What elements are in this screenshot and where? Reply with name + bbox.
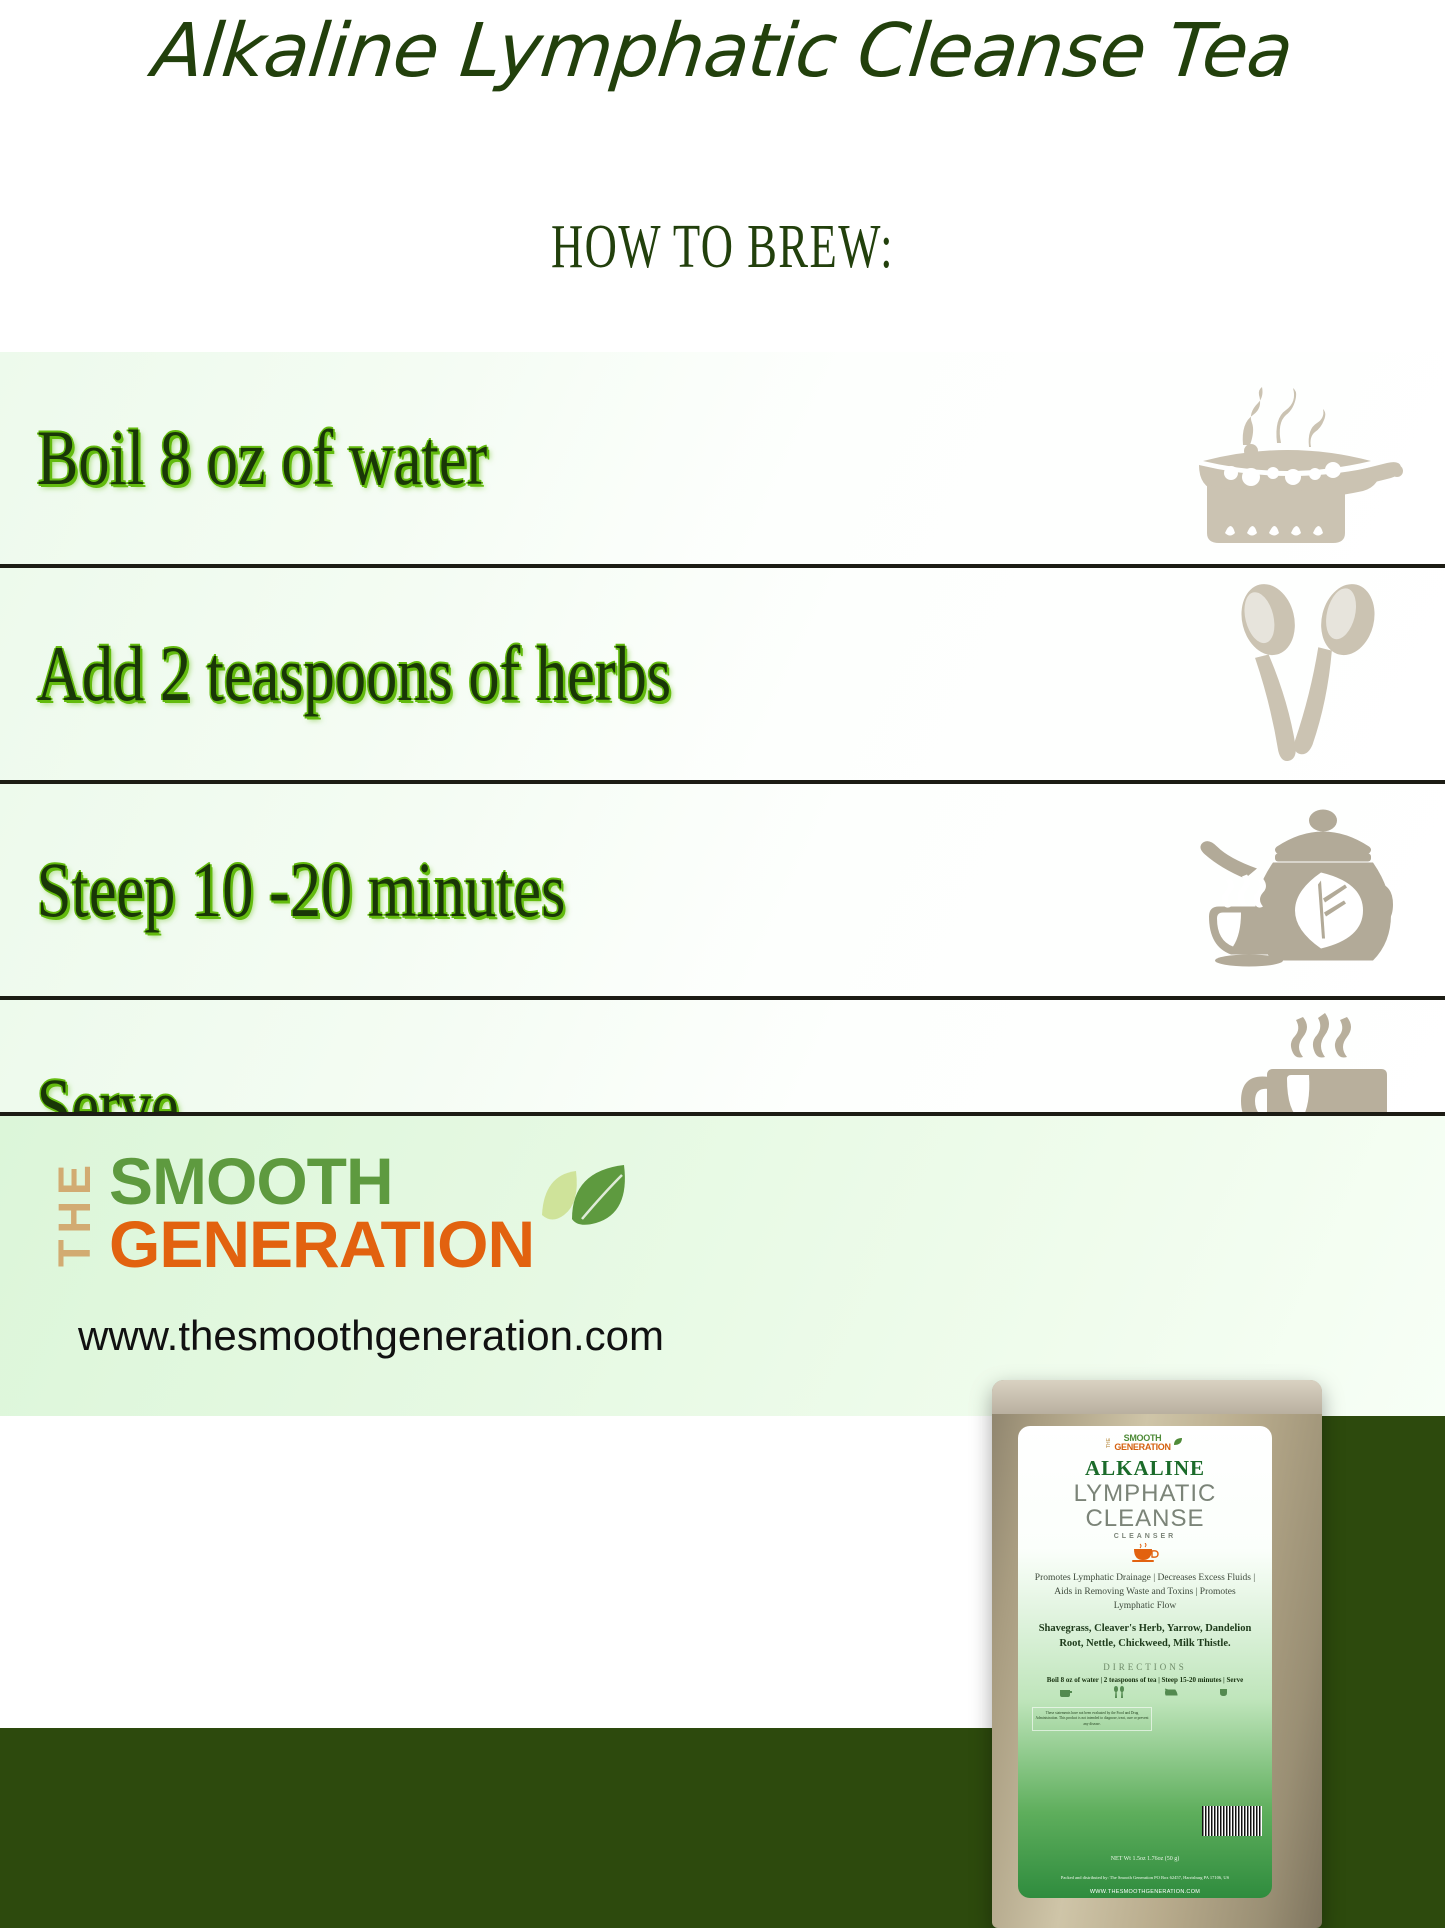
mini-spoons-icon	[1112, 1686, 1126, 1698]
footer-logo-band: THE SMOOTH GENERATION www.thesmoothgener…	[0, 1112, 1445, 1416]
label-net-weight: NET Wt 1.5oz 1.76oz (50 g)	[1018, 1856, 1272, 1862]
label-address: Packed and distributed by: The Smooth Ge…	[1018, 1875, 1272, 1882]
step-row-steep: Steep 10 -20 minutes	[0, 784, 1445, 1000]
label-product-type: CLEANSER	[1026, 1533, 1264, 1540]
mini-teapot-icon	[1164, 1686, 1178, 1698]
step-label-teaspoons: Add 2 teaspoons of herbs	[0, 629, 671, 719]
label-brand-generation: GENERATION	[1114, 1443, 1170, 1452]
boiling-pot-icon	[1173, 373, 1403, 543]
section-title: HOW TO BREW:	[202, 212, 1242, 283]
mini-cup-icon	[1217, 1686, 1231, 1698]
two-spoons-icon	[1203, 579, 1403, 769]
brew-steps-list: Boil 8 oz of water	[0, 352, 1445, 1216]
logo-the-text: THE	[52, 1159, 97, 1267]
label-direction-icons	[1026, 1686, 1264, 1698]
brand-logo: THE SMOOTH GENERATION	[52, 1150, 630, 1277]
bag-seal	[992, 1380, 1322, 1414]
label-teacup-icon	[1026, 1543, 1264, 1568]
leaf-icon	[538, 1163, 630, 1246]
mini-pot-icon	[1059, 1686, 1073, 1698]
step-row-boil: Boil 8 oz of water	[0, 352, 1445, 568]
teapot-and-cup-icon	[1173, 803, 1403, 978]
logo-generation-text: GENERATION	[109, 1213, 534, 1276]
product-bag-image: THE SMOOTH GENERATION ALKALINE LYMPHATIC…	[992, 1380, 1322, 1928]
label-directions-text: Boil 8 oz of water | 2 teaspoons of tea …	[1026, 1676, 1264, 1684]
label-barcode	[1202, 1806, 1262, 1836]
label-ingredients: Shavegrass, Cleaver's Herb, Yarrow, Dand…	[1026, 1621, 1264, 1653]
step-row-teaspoons: Add 2 teaspoons of herbs	[0, 568, 1445, 784]
label-directions-header: DIRECTIONS	[1026, 1662, 1264, 1672]
logo-smooth-text: SMOOTH	[109, 1150, 534, 1213]
label-url: WWW.THESMOOTHGENERATION.COM	[1018, 1889, 1272, 1895]
product-label: THE SMOOTH GENERATION ALKALINE LYMPHATIC…	[1018, 1426, 1272, 1898]
label-brand-the: THE	[1107, 1438, 1112, 1448]
label-description: Promotes Lymphatic Drainage | Decreases …	[1026, 1572, 1264, 1613]
step-label-boil: Boil 8 oz of water	[0, 413, 487, 503]
label-product-alkaline: ALKALINE	[1026, 1456, 1264, 1481]
website-url[interactable]: www.thesmoothgeneration.com	[78, 1312, 664, 1360]
label-disclaimer: These statements have not been evaluated…	[1032, 1707, 1152, 1731]
label-leaf-icon	[1173, 1434, 1183, 1452]
step-label-steep: Steep 10 -20 minutes	[0, 845, 565, 935]
label-brand-logo: THE SMOOTH GENERATION	[1026, 1434, 1264, 1453]
label-product-name: LYMPHATIC CLEANSE	[1026, 1481, 1264, 1531]
page-title: Alkaline Lymphatic Cleanse Tea	[0, 8, 1445, 94]
